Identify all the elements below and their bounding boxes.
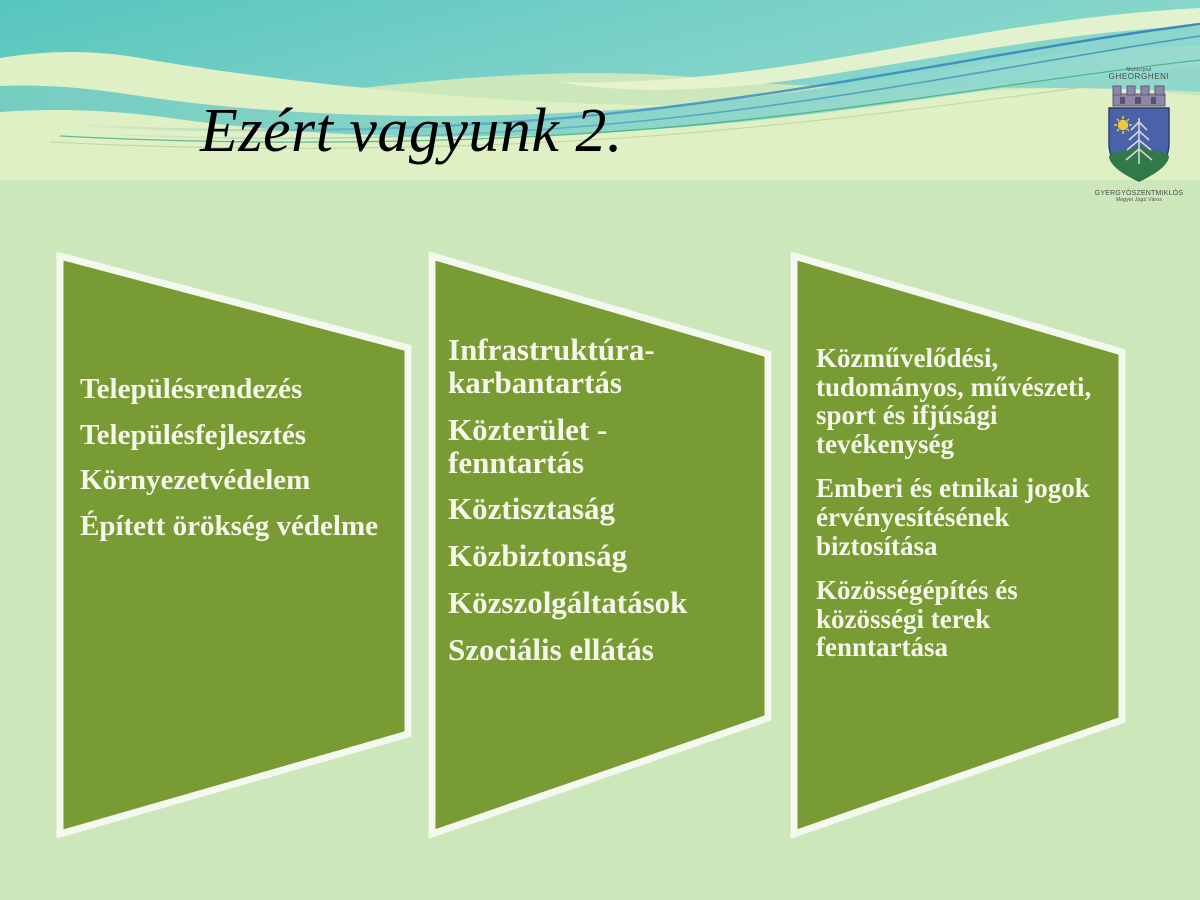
list-item: Közösségépítés és közösségi terek fennta… [816, 576, 1116, 662]
list-item: Köztisztaság [448, 493, 750, 526]
logo-bottom-text: GYERGYÓSZENTMIKLÓS Megyei Jogú Város [1083, 190, 1195, 204]
logo-top-text: Municipiul GHEORGHENI [1083, 68, 1195, 82]
mural-crown-icon [1113, 86, 1165, 106]
chevron-panel-3: Közművelődési, tudományos, művészeti, sp… [790, 252, 1162, 838]
page-title: Ezért vagyunk 2. [200, 96, 623, 167]
list-item: Közbiztonság [448, 540, 750, 573]
list-item: Szociális ellátás [448, 634, 750, 667]
chevron-panel-2: Infrastruktúra-karbantartás Közterület -… [428, 252, 800, 838]
list-item: Épített örökség védelme [80, 511, 392, 542]
panel-3-items: Közművelődési, tudományos, művészeti, sp… [816, 344, 1116, 678]
logo-gheorgheni-label: GHEORGHENI [1083, 73, 1195, 81]
city-logo: Municipiul GHEORGHENI [1083, 68, 1195, 216]
panel-2-items: Infrastruktúra-karbantartás Közterület -… [448, 334, 750, 681]
coat-of-arms-icon [1083, 82, 1195, 184]
list-item: Közszolgáltatások [448, 587, 750, 620]
list-item: Településfejlesztés [80, 420, 392, 451]
list-item: Közterület - fenntartás [448, 414, 750, 480]
list-item: Infrastruktúra-karbantartás [448, 334, 750, 400]
list-item: Közművelődési, tudományos, művészeti, sp… [816, 344, 1116, 458]
chevron-panel-1: Településrendezés Településfejlesztés Kö… [56, 252, 428, 838]
panel-1-items: Településrendezés Településfejlesztés Kö… [80, 374, 392, 557]
list-item: Településrendezés [80, 374, 392, 405]
logo-city-status-label: Megyei Jogú Város [1083, 198, 1195, 204]
list-item: Környezetvédelem [80, 465, 392, 496]
list-item: Emberi és etnikai jogok érvényesítésének… [816, 474, 1116, 560]
